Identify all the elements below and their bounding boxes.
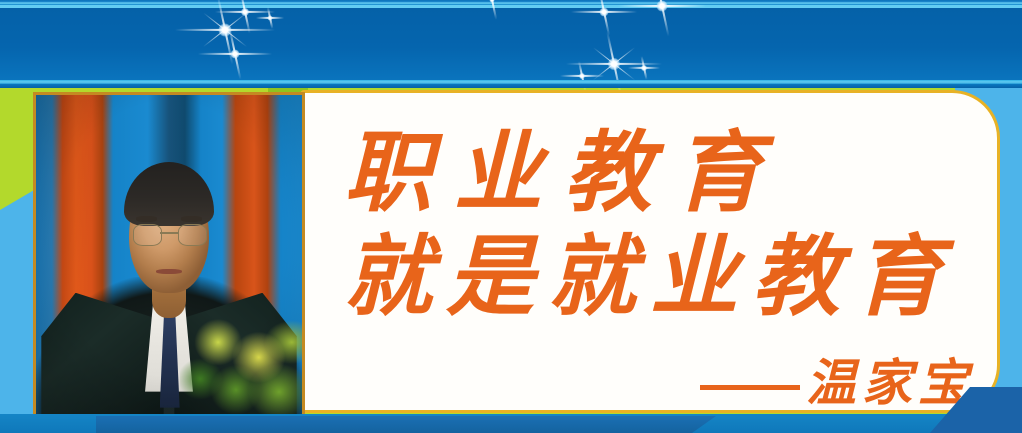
bottom-dark-blue-bar	[96, 416, 716, 433]
slogan-line-2: 就是就业教育	[344, 232, 956, 320]
header-blue-band	[0, 8, 1022, 80]
attribution-name: 温家宝	[806, 358, 974, 408]
attribution-dash	[700, 385, 800, 390]
promotional-banner: 职业教育 就是就业教育 温家宝	[0, 0, 1022, 433]
photo-vignette	[36, 95, 302, 414]
portrait-photo	[33, 92, 305, 417]
slogan-line-1: 职业教育	[344, 128, 784, 216]
header-blue-underline	[0, 84, 1022, 88]
